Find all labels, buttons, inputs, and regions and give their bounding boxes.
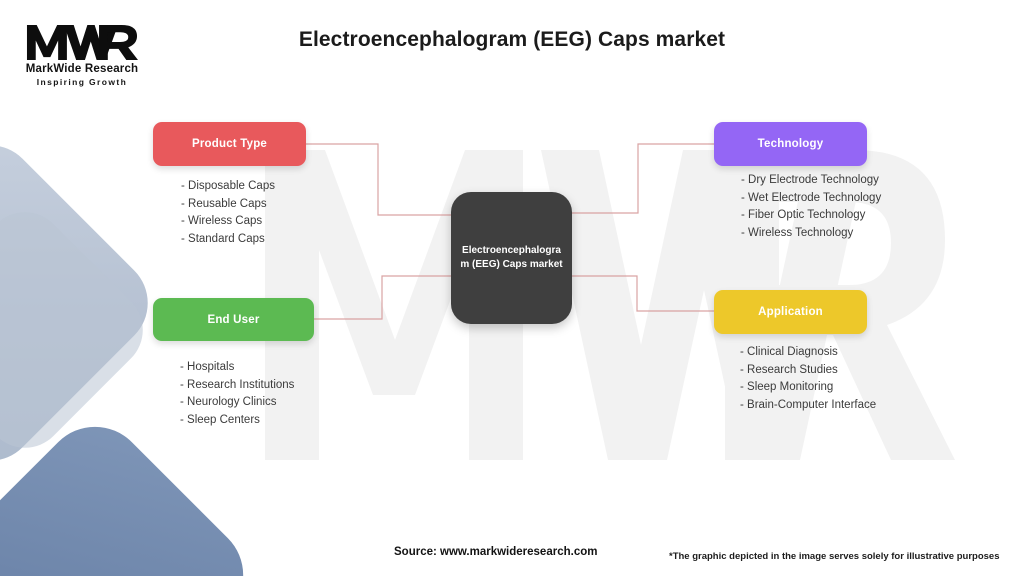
- branch-label-technology: Technology: [758, 138, 824, 150]
- disclaimer-text: *The graphic depicted in the image serve…: [669, 551, 1000, 562]
- list-item: - Sleep Centers: [180, 412, 294, 430]
- list-item: - Research Institutions: [180, 377, 294, 395]
- list-item: - Dry Electrode Technology: [741, 172, 881, 190]
- list-item: - Standard Caps: [181, 231, 275, 249]
- branch-node-application[interactable]: Application: [714, 290, 867, 334]
- list-item: - Wireless Technology: [741, 225, 881, 243]
- list-item: - Disposable Caps: [181, 178, 275, 196]
- branch-label-end-user: End User: [207, 314, 259, 326]
- branch-items-product-type: - Disposable Caps - Reusable Caps - Wire…: [181, 178, 275, 248]
- list-item: - Research Studies: [740, 362, 876, 380]
- branch-items-end-user: - Hospitals - Research Institutions - Ne…: [180, 359, 294, 429]
- branch-node-product-type[interactable]: Product Type: [153, 122, 306, 166]
- connector-end-user: [314, 276, 452, 319]
- list-item: - Neurology Clinics: [180, 394, 294, 412]
- branch-node-technology[interactable]: Technology: [714, 122, 867, 166]
- connector-product-type: [306, 144, 452, 215]
- branch-label-application: Application: [758, 306, 823, 318]
- connector-application: [572, 276, 714, 311]
- branch-items-application: - Clinical Diagnosis - Research Studies …: [740, 344, 876, 414]
- list-item: - Wireless Caps: [181, 213, 275, 231]
- branch-label-product-type: Product Type: [192, 138, 267, 150]
- connector-technology: [572, 144, 714, 213]
- source-text: Source: www.markwideresearch.com: [394, 546, 597, 558]
- list-item: - Brain-Computer Interface: [740, 397, 876, 415]
- list-item: - Wet Electrode Technology: [741, 190, 881, 208]
- center-node-label: Electroencephalogram (EEG) Caps market: [459, 244, 564, 273]
- infographic-canvas: MarkWide Research Inspiring Growth Elect…: [0, 0, 1024, 576]
- list-item: - Reusable Caps: [181, 196, 275, 214]
- center-node[interactable]: Electroencephalogram (EEG) Caps market: [451, 192, 572, 324]
- list-item: - Hospitals: [180, 359, 294, 377]
- list-item: - Sleep Monitoring: [740, 379, 876, 397]
- list-item: - Clinical Diagnosis: [740, 344, 876, 362]
- branch-node-end-user[interactable]: End User: [153, 298, 314, 341]
- branch-items-technology: - Dry Electrode Technology - Wet Electro…: [741, 172, 881, 242]
- list-item: - Fiber Optic Technology: [741, 207, 881, 225]
